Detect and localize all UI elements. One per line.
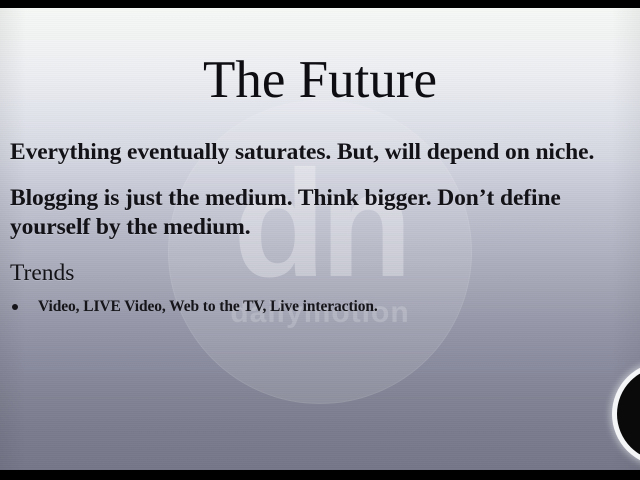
video-frame: dn dailymotion The Future Everything eve… <box>0 0 640 480</box>
list-item: Video, LIVE Video, Web to the TV, Live i… <box>10 296 630 317</box>
slide-paragraph-2: Blogging is just the medium. Think bigge… <box>10 184 630 242</box>
bullet-point-icon <box>12 304 18 310</box>
list-item-label: Video, LIVE Video, Web to the TV, Live i… <box>38 298 378 315</box>
letterbox-bar-top <box>0 0 640 8</box>
video-overlay-circle[interactable] <box>612 362 640 466</box>
slide-title: The Future <box>0 52 640 108</box>
letterbox-bar-bottom <box>0 470 640 480</box>
slide-paragraph-1: Everything eventually saturates. But, wi… <box>10 138 630 167</box>
slide-section-heading: Trends <box>10 259 630 288</box>
slide-body: Everything eventually saturates. But, wi… <box>10 138 630 317</box>
slide-bullet-list: Video, LIVE Video, Web to the TV, Live i… <box>10 296 630 317</box>
presentation-slide: dn dailymotion The Future Everything eve… <box>0 8 640 470</box>
slide-content: The Future Everything eventually saturat… <box>0 8 640 470</box>
